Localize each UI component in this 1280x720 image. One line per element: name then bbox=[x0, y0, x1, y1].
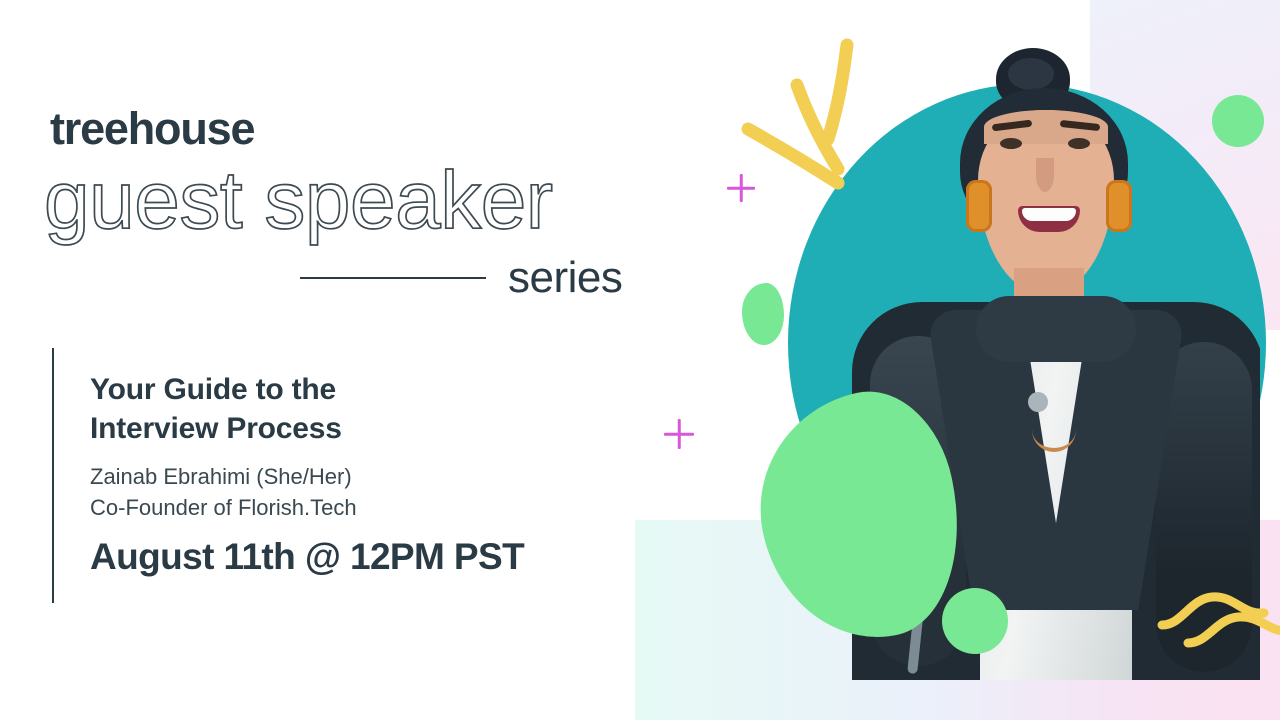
series-divider bbox=[300, 277, 486, 279]
vertical-divider bbox=[52, 348, 54, 603]
series-label: series bbox=[508, 253, 622, 303]
event-datetime: August 11th @ 12PM PST bbox=[90, 536, 524, 578]
page-title: guest speaker bbox=[44, 160, 553, 242]
speaker-name: Zainab Ebrahimi (She/Her) bbox=[90, 461, 357, 492]
talk-title-line-1: Your Guide to the bbox=[90, 370, 342, 409]
series-row: series bbox=[300, 253, 622, 303]
earring-left bbox=[966, 180, 992, 232]
talk-title: Your Guide to the Interview Process bbox=[90, 370, 342, 448]
nose bbox=[1036, 158, 1054, 192]
speaker-role: Co-Founder of Florish.Tech bbox=[90, 492, 357, 523]
organic-blob-icon-small bbox=[742, 283, 784, 345]
plus-mark-icon-upper bbox=[727, 174, 755, 202]
mouth bbox=[1018, 206, 1080, 232]
eye-left bbox=[1000, 138, 1022, 149]
sparkle-lines-icon bbox=[740, 35, 900, 235]
jacket-collar bbox=[976, 296, 1136, 362]
speaker-info: Zainab Ebrahimi (She/Her) Co-Founder of … bbox=[90, 461, 357, 523]
jacket-stud bbox=[1028, 392, 1048, 412]
teeth bbox=[1022, 208, 1076, 221]
guest-speaker-promo-slide: treehouse guest speaker series Your Guid… bbox=[0, 0, 1280, 720]
green-circle-icon-bottom bbox=[942, 588, 1008, 654]
green-circle-icon-top bbox=[1212, 95, 1264, 147]
eye-right bbox=[1068, 138, 1090, 149]
treehouse-wordmark: treehouse bbox=[50, 106, 254, 151]
earring-right bbox=[1106, 180, 1132, 232]
talk-title-line-2: Interview Process bbox=[90, 409, 342, 448]
wavy-lines-icon bbox=[1160, 585, 1280, 675]
plus-mark-icon-lower bbox=[664, 419, 694, 449]
